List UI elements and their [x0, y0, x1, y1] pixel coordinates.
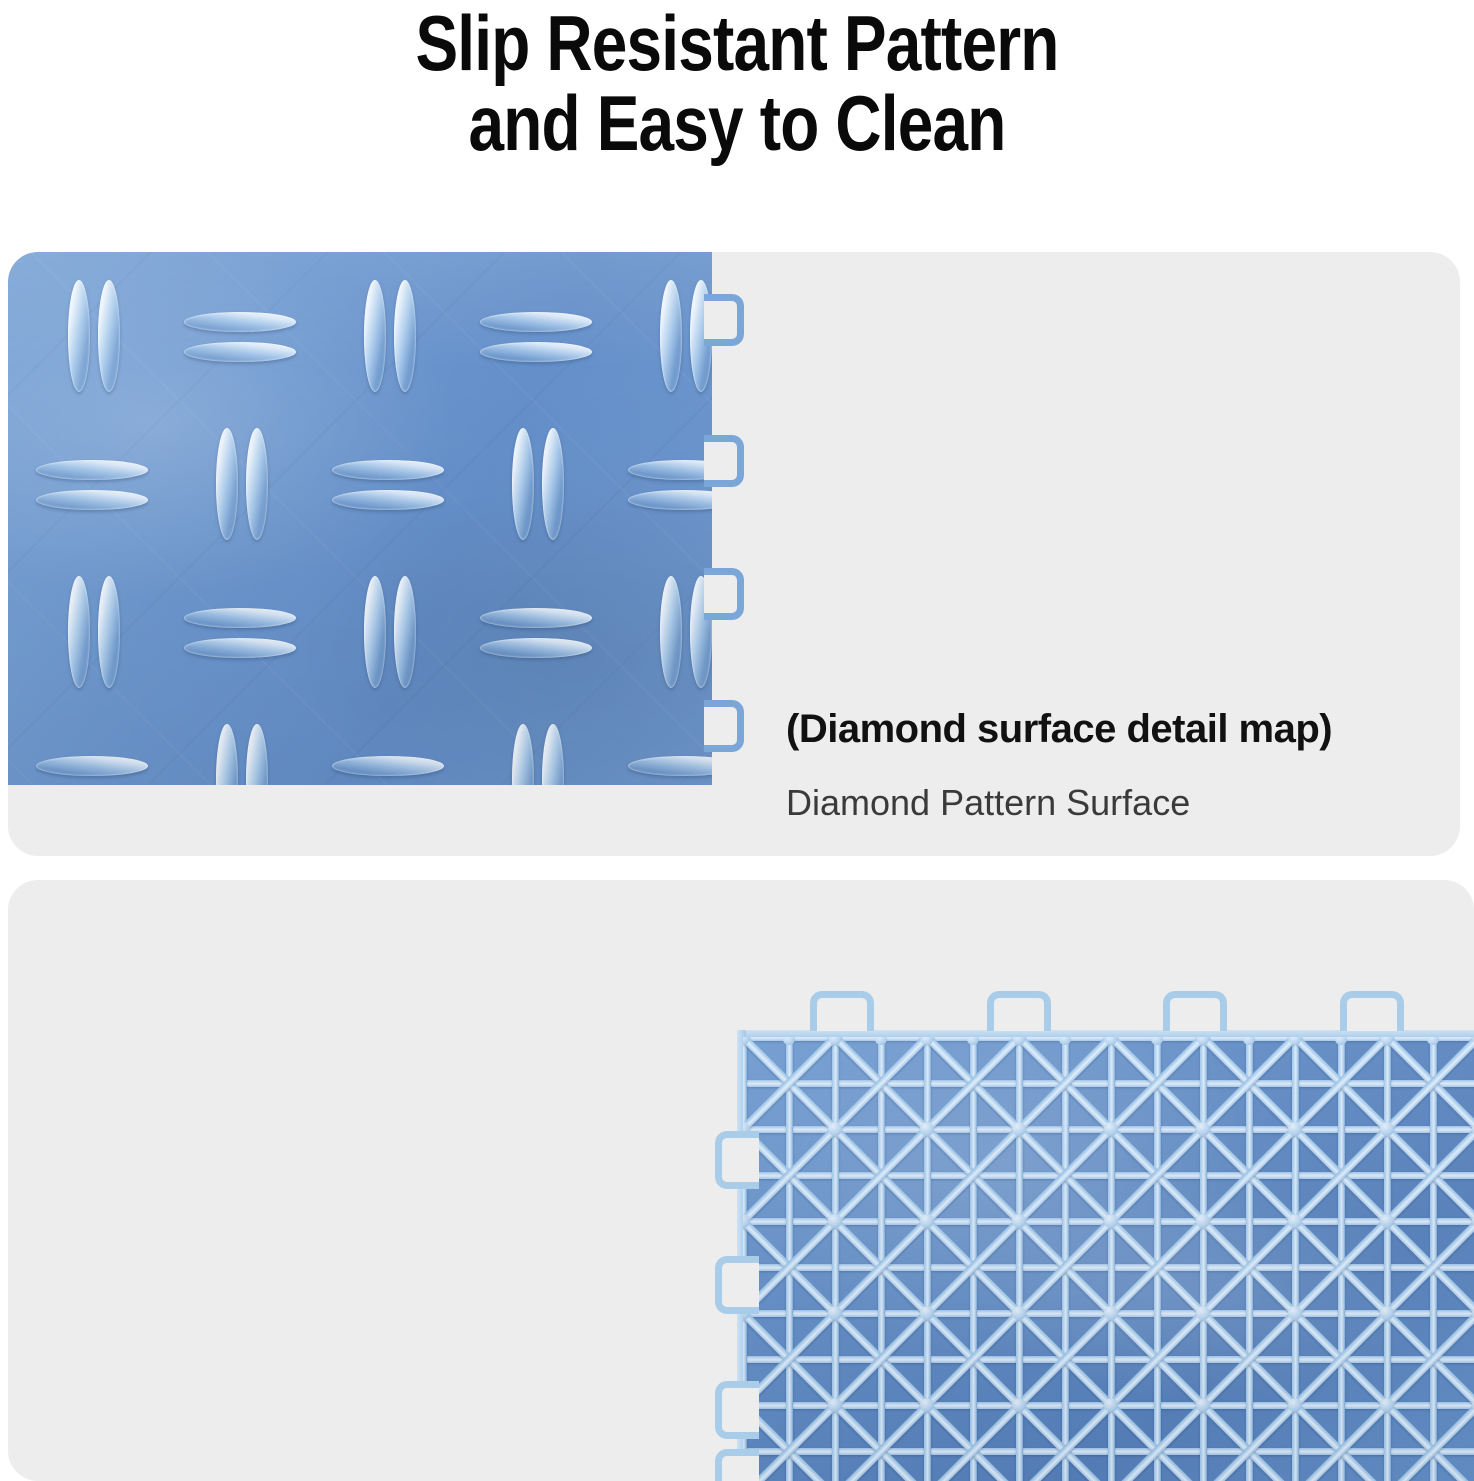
- interlock-tab-left-4: [715, 1449, 759, 1481]
- diamond-stud: [68, 280, 90, 392]
- interlock-tab-left-2: [715, 1256, 759, 1314]
- diamond-stud: [36, 490, 148, 510]
- interlock-tab-top-2: [987, 991, 1051, 1031]
- interlock-tab-right-1: [704, 294, 744, 346]
- grid-edge-stud: [1427, 1037, 1439, 1045]
- page-title: Slip Resistant Pattern and Easy to Clean: [133, 4, 1342, 163]
- diamond-stud: [184, 312, 296, 332]
- grid-node: [1196, 1214, 1210, 1228]
- grid-edge-stud: [1059, 1037, 1071, 1045]
- diamond-stud: [660, 576, 682, 688]
- interlock-tab-right-4: [704, 700, 744, 752]
- diamond-stud: [184, 608, 296, 628]
- diamond-stud: [184, 342, 296, 362]
- diamond-stud: [480, 638, 592, 658]
- interlock-tab-right-2: [704, 435, 744, 487]
- panel-diamond-surface: (Diamond surface detail map) Diamond Pat…: [8, 252, 1460, 856]
- diamond-stud: [98, 576, 120, 688]
- grid-edge-stud: [967, 1037, 979, 1045]
- grid-node: [1104, 1214, 1118, 1228]
- grid-node: [828, 1214, 842, 1228]
- headline-line-2: and Easy to Clean: [133, 84, 1342, 164]
- diamond-stud: [36, 460, 148, 480]
- grid-node: [920, 1306, 934, 1320]
- grid-node: [1104, 1398, 1118, 1412]
- interlock-tab-left-3: [715, 1381, 759, 1439]
- diamond-stud: [246, 724, 268, 785]
- diamond-stud: [480, 342, 592, 362]
- grid-node: [1012, 1214, 1026, 1228]
- diamond-stud: [628, 460, 712, 480]
- interlock-tab-top-4: [1340, 991, 1404, 1031]
- diamond-surface-text: (Diamond surface detail map) Diamond Pat…: [786, 707, 1446, 827]
- grid-node: [1012, 1122, 1026, 1136]
- diamond-stud: [542, 724, 564, 785]
- diamond-stud: [332, 460, 444, 480]
- grid-node: [1104, 1122, 1118, 1136]
- interlock-tab-right-3: [704, 568, 744, 620]
- diamond-stud: [36, 756, 148, 776]
- diamond-stud: [216, 428, 238, 540]
- grid-node: [1288, 1398, 1302, 1412]
- diamond-stud: [480, 312, 592, 332]
- grid-edge-stud: [783, 1037, 795, 1045]
- diamond-stud: [512, 724, 534, 785]
- grid-edge-stud: [1151, 1037, 1163, 1045]
- grid-node: [1012, 1306, 1026, 1320]
- grid-node: [1104, 1306, 1118, 1320]
- interlock-tab-top-3: [1163, 991, 1227, 1031]
- grid-edge-stud: [1243, 1037, 1255, 1045]
- diamond-plate-surface: [8, 252, 712, 785]
- grid-node: [1380, 1122, 1394, 1136]
- diamond-stud: [216, 724, 238, 785]
- diamond-stud: [394, 280, 416, 392]
- panel-bottom-diamond: (Bottom diamond detail) Bottom Diamond G…: [8, 880, 1474, 1481]
- grid-node: [920, 1398, 934, 1412]
- grid-node: [920, 1214, 934, 1228]
- grid-node: [828, 1122, 842, 1136]
- grid-node: [1288, 1122, 1302, 1136]
- grid-node: [828, 1306, 842, 1320]
- product-infographic: Slip Resistant Pattern and Easy to Clean…: [0, 0, 1474, 1481]
- diamond-stud: [628, 756, 712, 776]
- diamond-stud: [246, 428, 268, 540]
- grid-node: [1288, 1214, 1302, 1228]
- diamond-stud: [480, 608, 592, 628]
- grid-node: [1380, 1214, 1394, 1228]
- grid-node: [920, 1122, 934, 1136]
- diamond-surface-body: Diamond Pattern Surface: [786, 780, 1446, 827]
- diamond-plate-image: [8, 252, 720, 785]
- diamond-surface-title: (Diamond surface detail map): [786, 707, 1446, 752]
- diamond-stud: [332, 490, 444, 510]
- diamond-stud: [660, 280, 682, 392]
- headline-line-1: Slip Resistant Pattern: [415, 0, 1058, 87]
- grid-node: [1380, 1398, 1394, 1412]
- tile-underside-grid: [743, 1037, 1474, 1481]
- grid-node: [1196, 1306, 1210, 1320]
- grid-edge-stud: [875, 1037, 887, 1045]
- diamond-stud: [628, 490, 712, 510]
- diamond-stud: [394, 576, 416, 688]
- diamond-stud: [184, 638, 296, 658]
- diamond-stud: [512, 428, 534, 540]
- diamond-stud: [68, 576, 90, 688]
- interlock-tab-left-1: [715, 1131, 759, 1189]
- diamond-stud: [364, 576, 386, 688]
- grid-node: [1288, 1306, 1302, 1320]
- diamond-stud: [542, 428, 564, 540]
- interlock-tab-top-1: [810, 991, 874, 1031]
- diamond-stud: [364, 280, 386, 392]
- diamond-stud: [332, 756, 444, 776]
- grid-node: [1380, 1306, 1394, 1320]
- diamond-stud: [98, 280, 120, 392]
- bottom-grid-image: [715, 978, 1474, 1481]
- grid-node: [1196, 1122, 1210, 1136]
- grid-node: [1196, 1398, 1210, 1412]
- grid-node: [1012, 1398, 1026, 1412]
- grid-edge-stud: [1335, 1037, 1347, 1045]
- grid-node: [828, 1398, 842, 1412]
